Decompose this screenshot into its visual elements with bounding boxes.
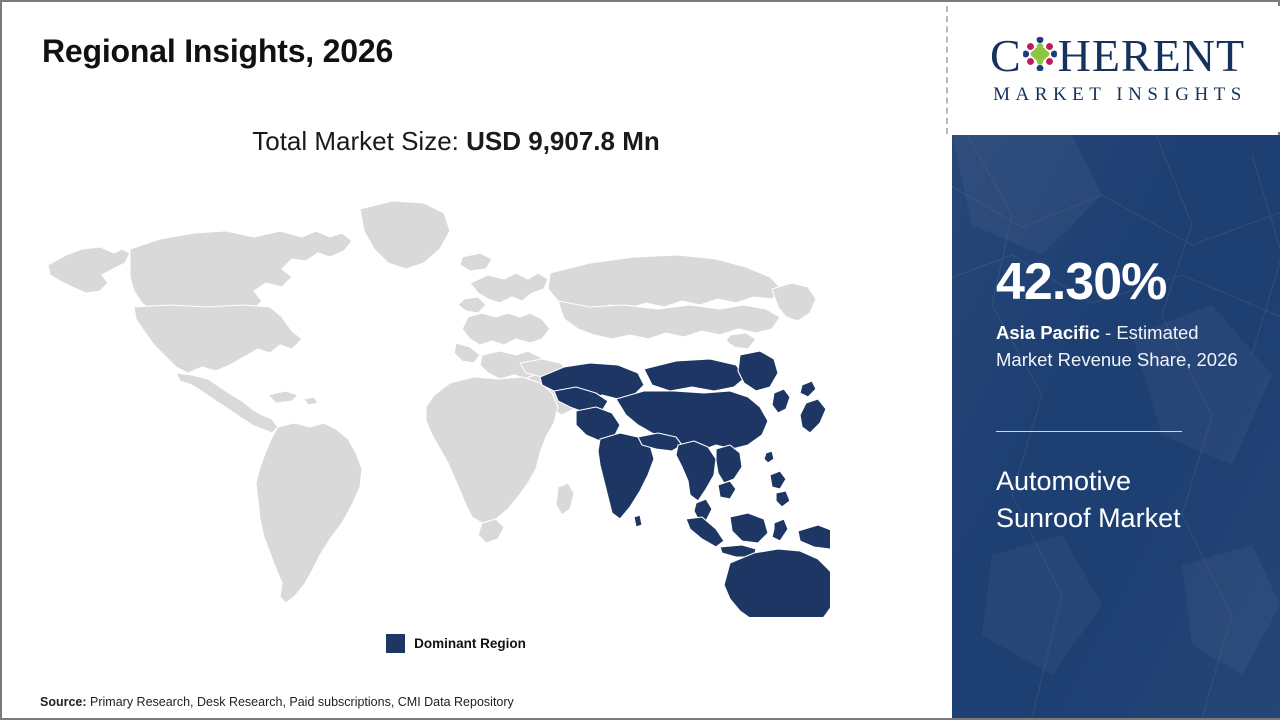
globe-dots-icon (1023, 37, 1057, 71)
stat-region-name: Asia Pacific (996, 322, 1100, 343)
world-map: .base{fill:#d9d9d9;stroke:#ffffff;stroke… (30, 187, 830, 617)
map-highlighted-regions (540, 351, 830, 617)
regional-insights-slide: Regional Insights, 2026 Total Market Siz… (0, 0, 1280, 720)
total-market-size: Total Market Size: USD 9,907.8 Mn (2, 126, 910, 157)
stat-caption: Asia Pacific - Estimated Market Revenue … (996, 319, 1242, 373)
world-map-container: .base{fill:#d9d9d9;stroke:#ffffff;stroke… (30, 187, 830, 617)
source-label: Source: (40, 695, 87, 709)
source-text: Primary Research, Desk Research, Paid su… (87, 695, 514, 709)
coherent-market-insights-logo: C HERENT MARKET INSIGHTS (955, 6, 1280, 132)
legend-label-dominant-region: Dominant Region (414, 636, 526, 651)
map-legend: Dominant Region (2, 634, 910, 653)
logo-letters-herent: HERENT (1058, 33, 1245, 79)
legend-swatch-dominant-region (386, 634, 405, 653)
panel-horizontal-rule (996, 431, 1182, 432)
stat-value-percentage: 42.30% (996, 256, 1166, 308)
logo-wordmark: C HERENT (990, 33, 1245, 79)
vertical-dashed-divider (946, 6, 948, 134)
logo-subtitle: MARKET INSIGHTS (988, 84, 1247, 106)
total-market-size-label: Total Market Size: (252, 126, 466, 156)
total-market-size-value: USD 9,907.8 Mn (466, 126, 660, 156)
market-name: Automotive Sunroof Market (996, 463, 1231, 536)
source-note: Source: Primary Research, Desk Research,… (40, 695, 514, 709)
map-pane: Regional Insights, 2026 Total Market Siz… (2, 2, 947, 718)
panel-content: 42.30% Asia Pacific - Estimated Market R… (996, 135, 1248, 718)
logo-letter-c: C (990, 33, 1022, 79)
regional-stat-panel: 42.30% Asia Pacific - Estimated Market R… (952, 135, 1280, 718)
page-title: Regional Insights, 2026 (42, 33, 393, 70)
